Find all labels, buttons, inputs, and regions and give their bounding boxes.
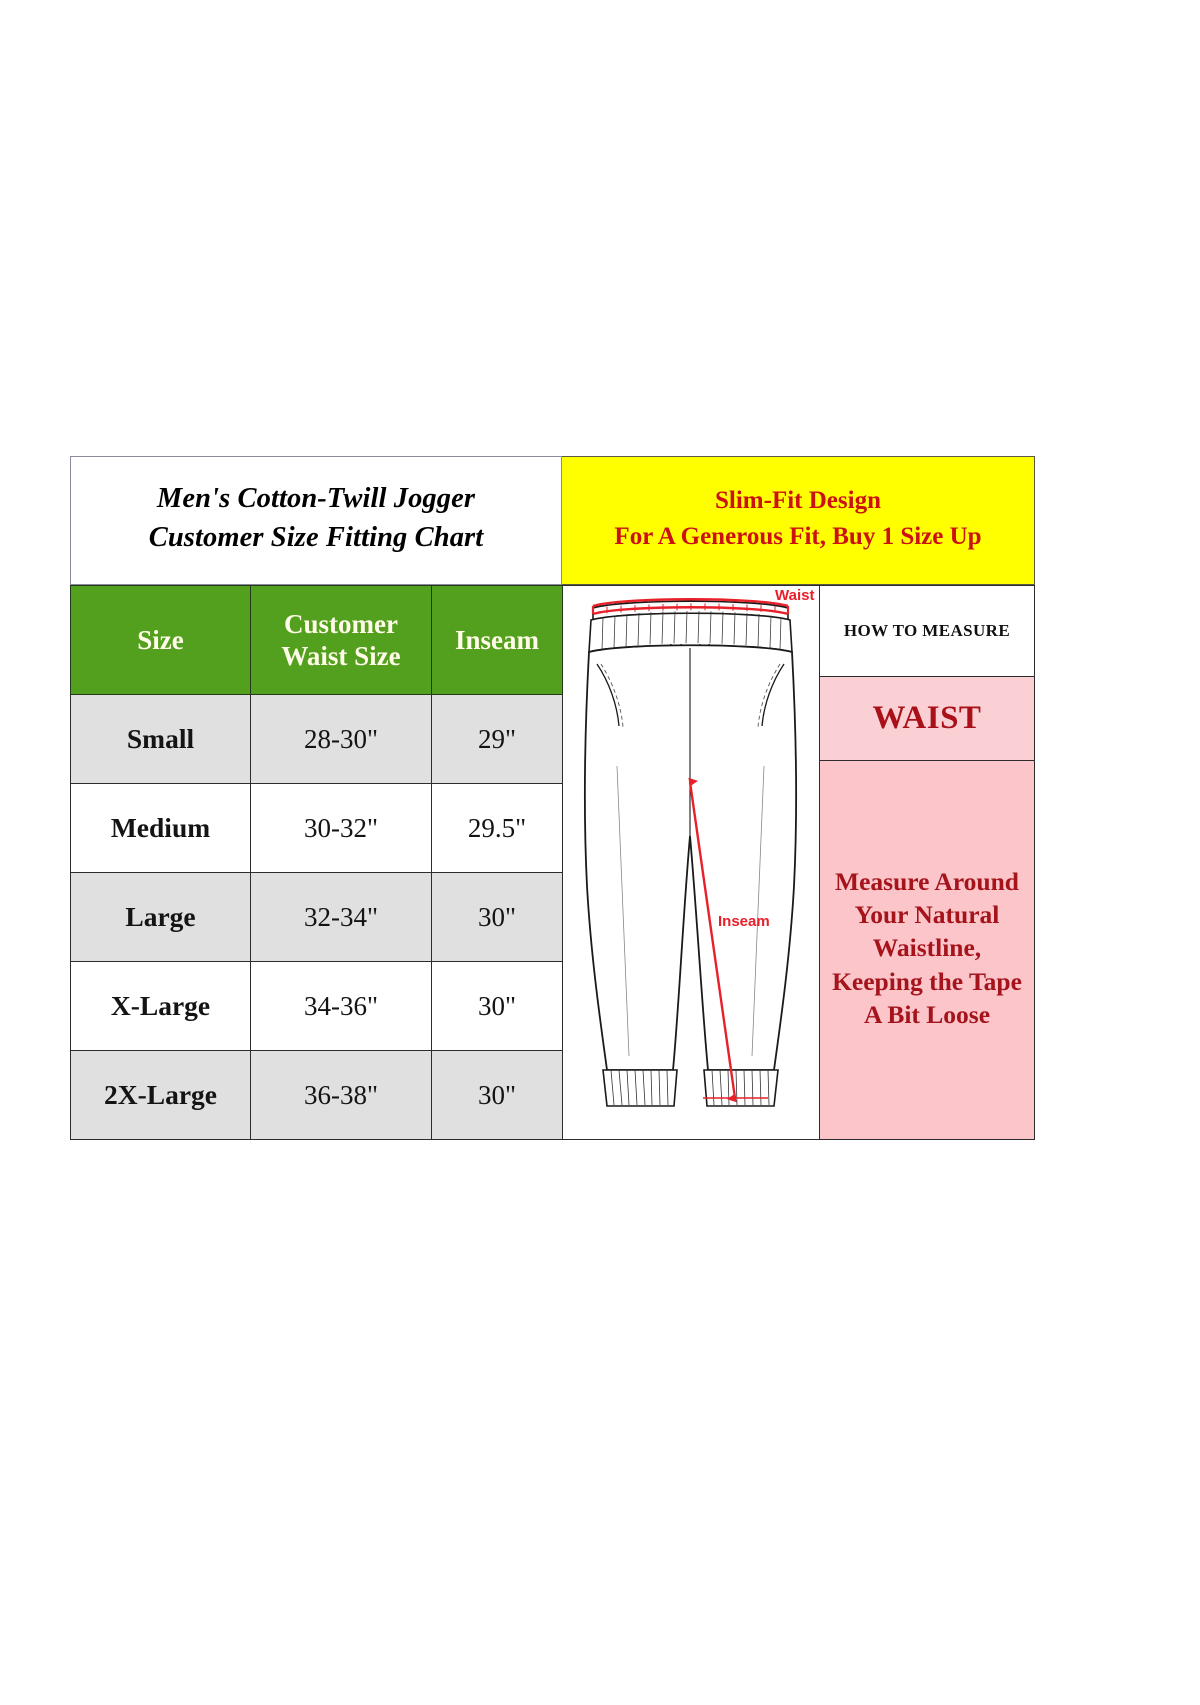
diagram-label-waist: Waist	[775, 587, 814, 604]
table-row: Large 32-34" 30"	[71, 873, 563, 962]
measure-panel: Waist Inseam HOW TO MEASURE WAIST Measur…	[563, 585, 1035, 1140]
measure-name-waist: WAIST	[820, 677, 1035, 761]
chart-title-cell: Men's Cotton-Twill Jogger Customer Size …	[70, 456, 562, 585]
cell-size: X-Large	[71, 962, 251, 1051]
column-header-size: Size	[71, 586, 251, 695]
promo-line-1: Slim-Fit Design	[715, 483, 881, 519]
cell-inseam: 29.5"	[432, 784, 563, 873]
cell-inseam: 30"	[432, 1051, 563, 1140]
cell-waist: 32-34"	[251, 873, 432, 962]
chart-title-line-1: Men's Cotton-Twill Jogger	[157, 480, 475, 518]
promo-line-2: For A Generous Fit, Buy 1 Size Up	[614, 519, 981, 555]
how-to-measure-column: HOW TO MEASURE WAIST Measure Around Your…	[820, 585, 1035, 1140]
measure-instruction-cell: Measure Around Your Natural Waistline, K…	[820, 761, 1035, 1140]
cell-size: Large	[71, 873, 251, 962]
table-row: X-Large 34-36" 30"	[71, 962, 563, 1051]
cell-waist: 36-38"	[251, 1051, 432, 1140]
table-row: Medium 30-32" 29.5"	[71, 784, 563, 873]
chart-body: Size Customer Waist Size Inseam Small 28…	[70, 585, 1035, 1140]
size-table: Size Customer Waist Size Inseam Small 28…	[70, 585, 563, 1140]
chart-title-line-2: Customer Size Fitting Chart	[149, 519, 484, 557]
cell-size: Small	[71, 695, 251, 784]
column-header-inseam: Inseam	[432, 586, 563, 695]
column-header-waist: Customer Waist Size	[251, 586, 432, 695]
cell-inseam: 29"	[432, 695, 563, 784]
cell-waist: 28-30"	[251, 695, 432, 784]
cell-inseam: 30"	[432, 962, 563, 1051]
table-row: 2X-Large 36-38" 30"	[71, 1051, 563, 1140]
cell-size: 2X-Large	[71, 1051, 251, 1140]
jogger-illustration-icon: Waist Inseam	[563, 586, 818, 1111]
promo-banner: Slim-Fit Design For A Generous Fit, Buy …	[562, 456, 1035, 585]
chart-header: Men's Cotton-Twill Jogger Customer Size …	[70, 456, 1035, 585]
cell-waist: 30-32"	[251, 784, 432, 873]
cell-size: Medium	[71, 784, 251, 873]
size-table-header-row: Size Customer Waist Size Inseam	[71, 586, 563, 695]
how-to-measure-heading: HOW TO MEASURE	[820, 585, 1035, 677]
size-chart: Men's Cotton-Twill Jogger Customer Size …	[70, 456, 1035, 1112]
jogger-diagram-cell: Waist Inseam	[563, 585, 820, 1140]
diagram-label-inseam: Inseam	[718, 913, 770, 930]
cell-waist: 34-36"	[251, 962, 432, 1051]
cell-inseam: 30"	[432, 873, 563, 962]
measure-instruction-text: Measure Around Your Natural Waistline, K…	[830, 865, 1024, 1031]
table-row: Small 28-30" 29"	[71, 695, 563, 784]
